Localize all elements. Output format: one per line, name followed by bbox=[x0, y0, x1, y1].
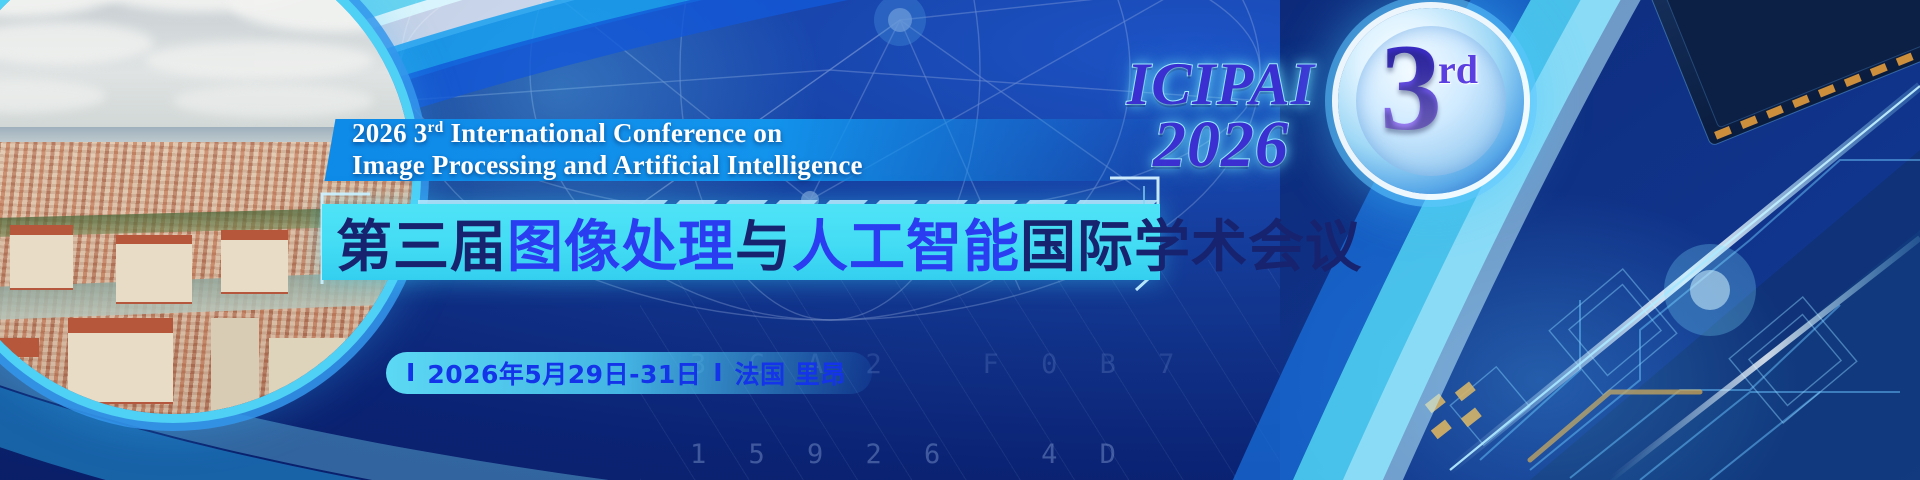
chinese-title-seg2: 图像处理 bbox=[507, 202, 735, 283]
roof bbox=[0, 338, 39, 357]
cathedral-tower bbox=[211, 318, 259, 414]
date-venue-pill: Ⅰ 2026年5月29日-31日 Ⅰ 法国 里昂 bbox=[386, 352, 872, 394]
chinese-title-seg5: 国际学术会议 bbox=[1020, 202, 1362, 283]
chinese-title-seg1: 第三届 bbox=[336, 202, 507, 283]
english-title-line1: 2026 3rd International Conference on bbox=[352, 118, 1152, 150]
cloud bbox=[144, 41, 373, 79]
chinese-title: 第三届图像处理与人工智能国际学术会议 bbox=[336, 203, 1362, 281]
building bbox=[221, 237, 288, 294]
building bbox=[68, 328, 173, 404]
cloud bbox=[173, 84, 374, 117]
conference-date: 2026年5月29日-31日 bbox=[427, 355, 701, 391]
english-title-line1-prefix: 2026 3 bbox=[352, 118, 427, 148]
separator-left: Ⅰ bbox=[406, 358, 415, 388]
english-title-line1-rest: International Conference on bbox=[444, 118, 783, 148]
separator-right: Ⅰ bbox=[713, 358, 722, 388]
emblem-number: 3 bbox=[1380, 26, 1442, 150]
english-title-ordinal-sup: rd bbox=[427, 119, 443, 136]
cathedral bbox=[269, 338, 345, 414]
conference-venue: 法国 里昂 bbox=[735, 355, 846, 391]
roof bbox=[10, 225, 72, 235]
roof bbox=[221, 230, 288, 240]
conference-banner: 3 C A 2 F 0 B 7 1 5 9 2 6 4 D A 7 8 C B … bbox=[0, 0, 1920, 480]
roof bbox=[68, 318, 173, 332]
roof bbox=[116, 235, 192, 245]
emblem-suffix: rd bbox=[1438, 46, 1478, 93]
hex-row: 1 5 9 2 6 4 D bbox=[690, 440, 1250, 470]
chinese-title-seg3: 与 bbox=[735, 202, 792, 283]
chinese-title-seg4: 人工智能 bbox=[792, 202, 1020, 283]
building bbox=[116, 242, 192, 304]
ordinal-emblem-badge: 3 rd bbox=[1338, 8, 1524, 194]
building bbox=[10, 232, 72, 289]
wordmark-acronym: ICIPAI bbox=[1086, 56, 1356, 112]
